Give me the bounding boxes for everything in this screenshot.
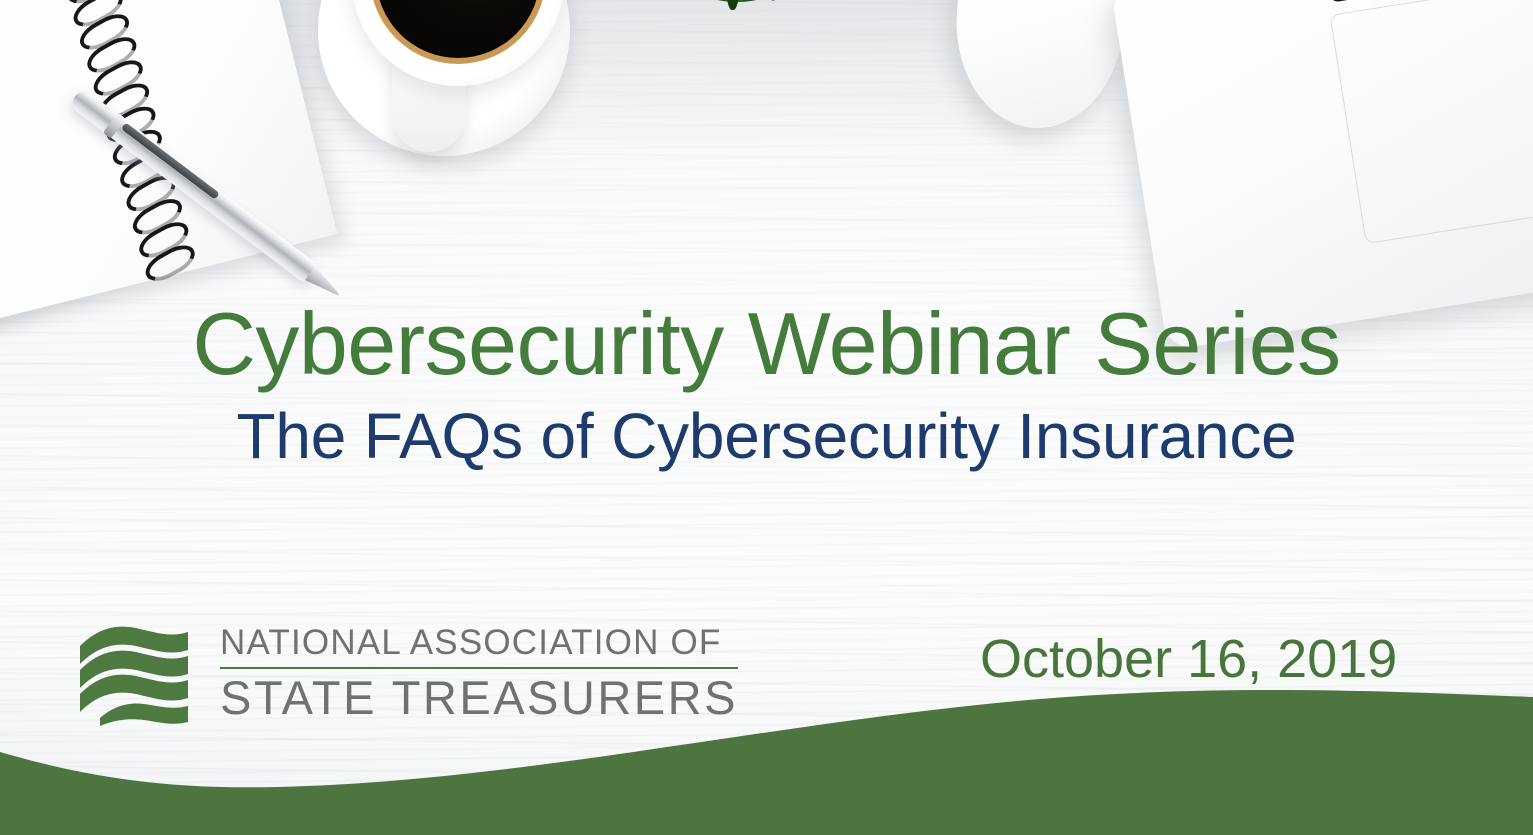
laptop-trackpad (1330, 0, 1533, 244)
logo-divider-rule (220, 667, 738, 669)
logo-line-national-association-of: NATIONAL ASSOCIATION OF (220, 625, 738, 662)
coffee-highlight (462, 0, 539, 13)
cup-inner-rim (370, 0, 546, 64)
nast-wave-flag-icon (78, 622, 202, 726)
nast-logo: NATIONAL ASSOCIATION OF STATE TREASURERS (78, 622, 738, 726)
headline-block: Cybersecurity Webinar Series The FAQs of… (0, 300, 1533, 468)
event-date: October 16, 2019 (980, 628, 1397, 690)
page-subtitle: The FAQs of Cybersecurity Insurance (0, 404, 1533, 468)
page-title: Cybersecurity Webinar Series (0, 300, 1533, 388)
logo-line-state-treasurers: STATE TREASURERS (220, 673, 738, 722)
computer-mouse (949, 0, 1134, 134)
webinar-title-slide: Cybersecurity Webinar Series The FAQs of… (0, 0, 1533, 835)
potted-plant (612, 0, 862, 112)
desk-objects-photo (0, 0, 1533, 330)
nast-logo-wordmark: NATIONAL ASSOCIATION OF STATE TREASURERS (220, 625, 738, 722)
black-coffee (376, 0, 540, 58)
